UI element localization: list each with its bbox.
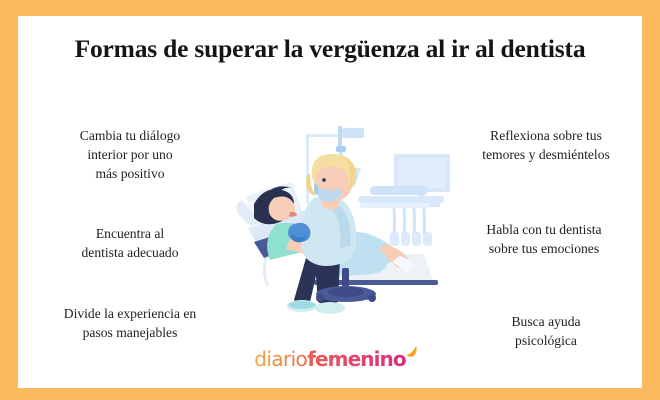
tip-line: sobre tus emociones	[446, 239, 642, 258]
tip-line: dentista adecuado	[24, 243, 236, 262]
tip-encuentra-dentista-adecuado: Encuentra al dentista adecuado	[24, 224, 236, 262]
tip-habla-con-dentista: Habla con tu dentista sobre tus emocione…	[446, 220, 642, 258]
dentist-treating-patient-illustration	[218, 112, 458, 322]
page-title: Formas de superar la vergüenza al ir al …	[18, 34, 642, 64]
tip-reflexiona-temores: Reflexiona sobre tus temores y desmiénte…	[448, 126, 642, 164]
tip-line: más positivo	[24, 164, 236, 183]
logo-word-femenino: femenino	[307, 347, 406, 371]
infographic-card: Formas de superar la vergüenza al ir al …	[0, 0, 660, 400]
tip-cambia-dialogo-interior: Cambia tu diálogo interior por uno más p…	[24, 126, 236, 183]
logo-inner: diariofemenino	[254, 349, 405, 369]
tip-line: pasos manejables	[20, 323, 240, 342]
tip-line: interior por uno	[24, 145, 236, 164]
tip-line: Divide la experiencia en	[20, 304, 240, 323]
tip-line: Busca ayuda	[448, 312, 642, 331]
infographic-canvas: Formas de superar la vergüenza al ir al …	[18, 16, 642, 388]
logo-word-diario: diario	[254, 347, 307, 371]
brand-logo: diariofemenino	[18, 349, 642, 379]
tip-line: Habla con tu dentista	[446, 220, 642, 239]
tip-line: Reflexiona sobre tus	[448, 126, 642, 145]
tip-line: Encuentra al	[24, 224, 236, 243]
tip-line: Cambia tu diálogo	[24, 126, 236, 145]
tip-line: temores y desmiéntelos	[448, 145, 642, 164]
tip-divide-experiencia-pasos: Divide la experiencia en pasos manejable…	[20, 304, 240, 342]
swoosh-mark-icon	[405, 345, 419, 359]
tip-line: psicológica	[448, 331, 642, 350]
tip-busca-ayuda-psicologica: Busca ayuda psicológica	[448, 312, 642, 350]
